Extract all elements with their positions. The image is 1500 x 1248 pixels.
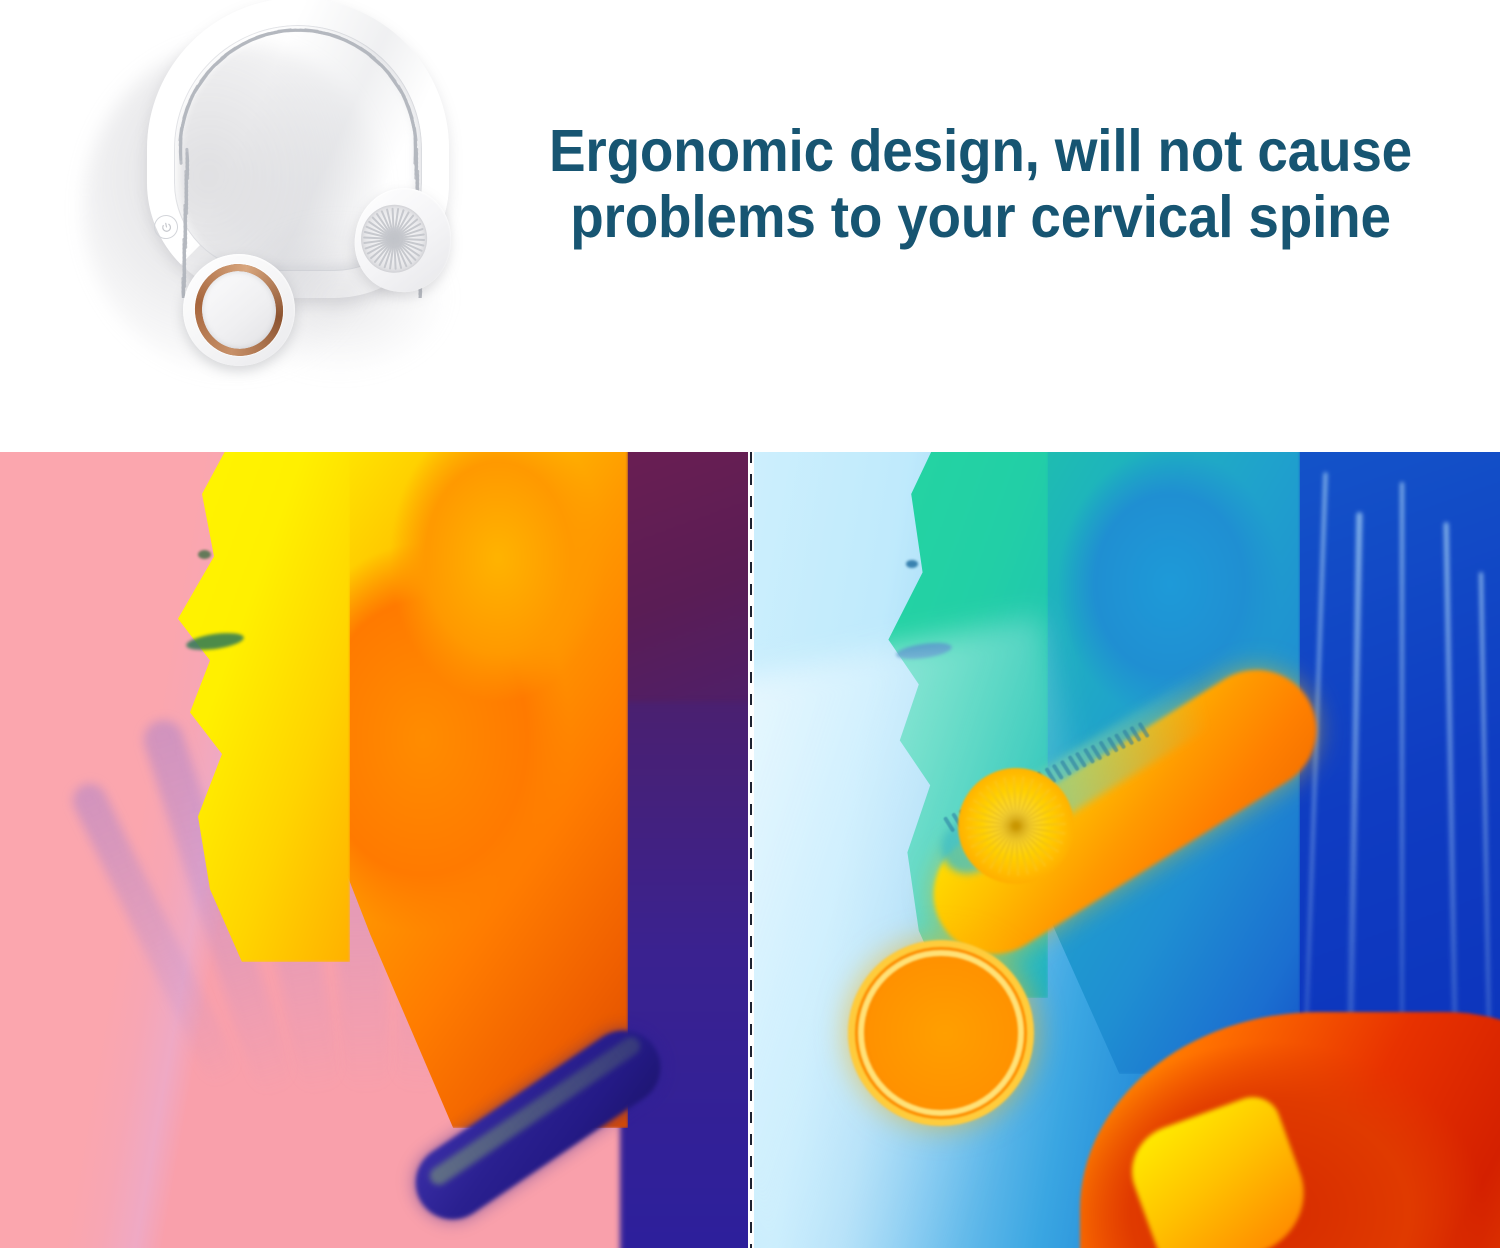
thermal-photo-right [750, 452, 1500, 1248]
headline-line-2: problems to your cervical spine [513, 184, 1448, 250]
left-hair-lower [620, 702, 750, 1248]
left-nostril [198, 550, 211, 559]
product-marketing-card: Ergonomic design, will not cause problem… [0, 0, 1500, 1248]
page-title: Ergonomic design, will not cause problem… [513, 118, 1448, 250]
right-device-cap-ring [858, 950, 1024, 1116]
right-nostril [906, 560, 918, 568]
fan-turbine-icon [357, 200, 432, 277]
product-image-neck-fan [55, 0, 475, 412]
headline-banner: Ergonomic design, will not cause problem… [0, 0, 1500, 452]
thermal-photo-left [0, 452, 750, 1248]
fan-band [55, 0, 475, 412]
fan-left-end-cap [183, 254, 295, 366]
dashed-vertical-divider [750, 452, 752, 1248]
power-glyph [159, 220, 172, 233]
headline-line-1: Ergonomic design, will not cause [549, 118, 1412, 184]
rose-gold-ring [188, 257, 291, 363]
